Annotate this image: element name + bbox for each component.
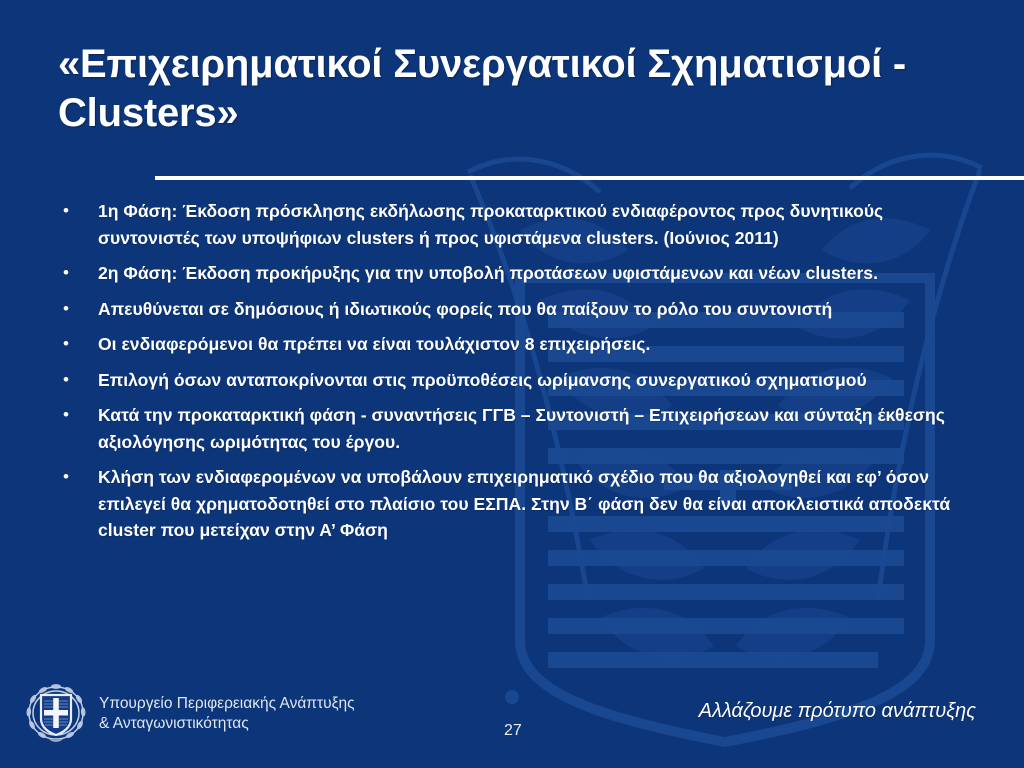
list-item-text: Επιλογή όσων ανταποκρίνονται στις προϋπο… [98,367,972,394]
title-block: «Επιχειρηματικοί Συνεργατικοί Σχηματισμο… [58,40,988,138]
list-item: • Επιλογή όσων ανταποκρίνονται στις προϋ… [56,367,972,394]
watermark-dot [505,690,519,704]
bullet-marker-icon: • [56,367,98,394]
list-item-text: Κλήση των ενδιαφερομένων να υποβάλουν επ… [98,464,972,544]
title-divider [155,176,1024,180]
ministry-logo: Υπουργείο Περιφερειακής Ανάπτυξης & Αντα… [24,682,355,746]
presentation-slide: «Επιχειρηματικοί Συνεργατικοί Σχηματισμο… [0,0,1024,768]
list-item-text: Απευθύνεται σε δημόσιους ή ιδιωτικούς φο… [98,296,972,323]
page-number: 27 [504,722,522,740]
list-item: • 1η Φάση: Έκδοση πρόσκλησης εκδήλωσης π… [56,198,972,251]
list-item-text: Κατά την προκαταρκτική φάση - συναντήσει… [98,402,972,455]
list-item: • Οι ενδιαφερόμενοι θα πρέπει να είναι τ… [56,331,972,358]
bullet-marker-icon: • [56,331,98,358]
bullet-marker-icon: • [56,402,98,429]
greek-coat-of-arms-icon [24,682,88,746]
bullet-marker-icon: • [56,260,98,287]
page-title: «Επιχειρηματικοί Συνεργατικοί Σχηματισμο… [58,40,988,138]
ministry-name-label: Υπουργείο Περιφερειακής Ανάπτυξης & Αντα… [99,694,355,735]
list-item: • 2η Φάση: Έκδοση προκήρυξης για την υπο… [56,260,972,287]
list-item-text: 1η Φάση: Έκδοση πρόσκλησης εκδήλωσης προ… [98,198,972,251]
bullet-marker-icon: • [56,296,98,323]
bullet-marker-icon: • [56,198,98,225]
list-item-text: Οι ενδιαφερόμενοι θα πρέπει να είναι του… [98,331,972,358]
list-item: • Κατά την προκαταρκτική φάση - συναντήσ… [56,402,972,455]
list-item-text: 2η Φάση: Έκδοση προκήρυξης για την υποβο… [98,260,972,287]
list-item: • Απευθύνεται σε δημόσιους ή ιδιωτικούς … [56,296,972,323]
list-item: • Κλήση των ενδιαφερομένων να υποβάλουν … [56,464,972,544]
tagline-label: Αλλάζουμε πρότυπο ανάπτυξης [699,700,976,723]
bullet-marker-icon: • [56,464,98,491]
bullet-list: • 1η Φάση: Έκδοση πρόσκλησης εκδήλωσης π… [56,198,972,553]
